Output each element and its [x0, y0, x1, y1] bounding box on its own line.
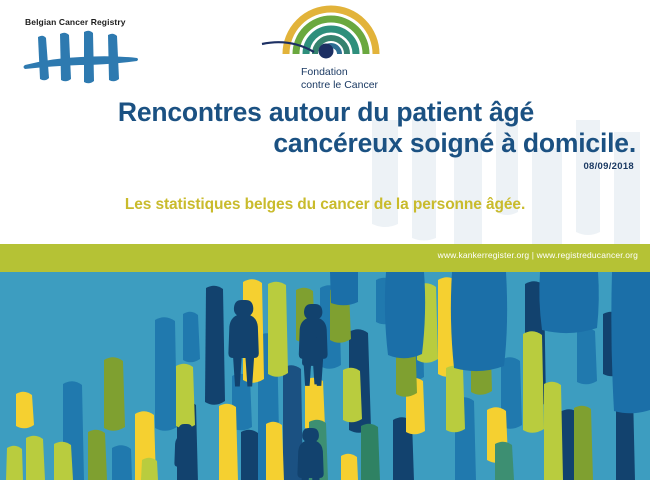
fondation-contre-le-cancer-logo: Fondation contre le Cancer [256, 4, 406, 90]
page-subtitle: Les statistiques belges du cancer de la … [0, 196, 650, 214]
fcc-logo-text: Fondation contre le Cancer [256, 66, 406, 91]
header-area: Belgian Cancer Registry [0, 0, 650, 244]
url-band: www.kankerregister.org | www.registreduc… [0, 244, 650, 272]
title-slide: Belgian Cancer Registry [0, 0, 650, 480]
slide-date: 08/09/2018 [20, 161, 638, 172]
brush-stroke-artwork [0, 272, 650, 480]
artwork-svg [0, 272, 650, 480]
fcc-logo-text-line2: contre le Cancer [301, 79, 406, 92]
page-title-line-2: cancéreux soigné à domicile. [20, 128, 638, 159]
title-block: Rencontres autour du patient âgé cancére… [20, 97, 638, 172]
logo-dot-icon [319, 44, 334, 59]
rainbow-arcs-icon [256, 4, 406, 60]
tally-marks-icon [22, 29, 140, 85]
belgian-cancer-registry-logo: Belgian Cancer Registry [22, 17, 157, 92]
fcc-logo-text-line1: Fondation [301, 66, 406, 79]
website-urls[interactable]: www.kankerregister.org | www.registreduc… [438, 250, 638, 260]
bcr-logo-text: Belgian Cancer Registry [25, 17, 157, 27]
page-title-line-1: Rencontres autour du patient âgé [20, 97, 638, 128]
